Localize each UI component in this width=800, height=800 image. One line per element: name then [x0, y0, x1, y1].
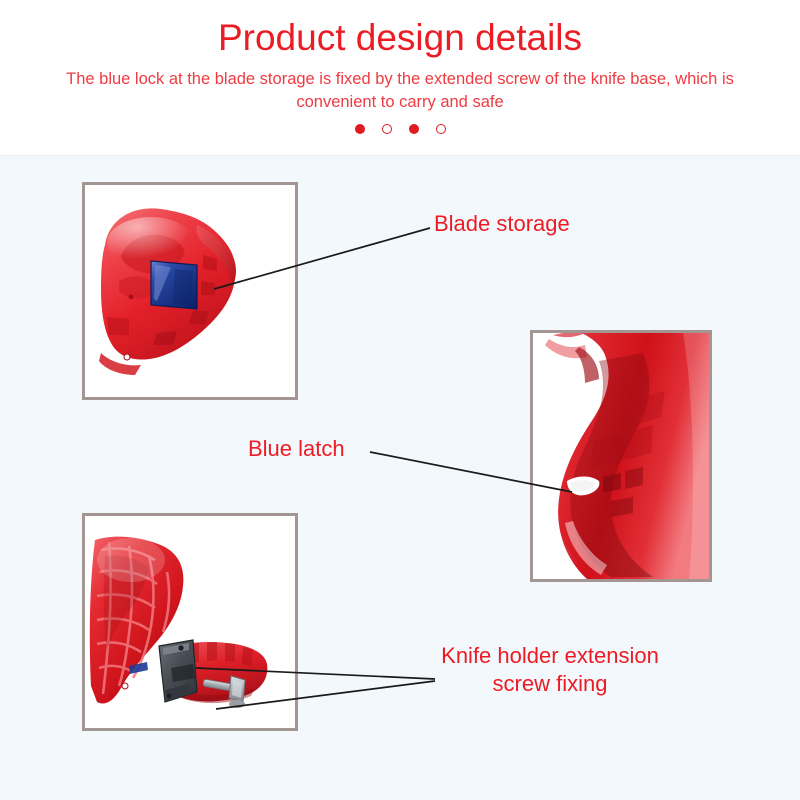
knife-head-top-view-illustration [85, 185, 295, 397]
carousel-dot-1[interactable] [355, 124, 365, 134]
carousel-dots[interactable] [0, 124, 800, 134]
top-left-product-photo [85, 185, 295, 397]
callout-label-blue-latch: Blue latch [248, 436, 345, 462]
right-product-photo [533, 333, 709, 579]
callout-label-screw-fixing-line1: Knife holder extension [420, 642, 680, 670]
ridge-2 [201, 281, 215, 295]
curved-body-closeup-illustration [533, 333, 709, 579]
carousel-dot-4[interactable] [436, 124, 446, 134]
top-left-photo-frame [82, 182, 298, 400]
left-step [107, 317, 129, 335]
underside-gloss [97, 538, 165, 582]
blade-clamp [159, 640, 197, 702]
knife-underside-illustration [85, 516, 295, 728]
carousel-dot-3[interactable] [409, 124, 419, 134]
right-photo-frame [530, 330, 712, 582]
product-detail-infographic: Product design details The blue lock at … [0, 0, 800, 800]
bottom-left-photo-frame [82, 513, 298, 731]
header-divider [0, 155, 800, 156]
carousel-dot-2[interactable] [382, 124, 392, 134]
pivot-hole-upper [129, 295, 134, 300]
callout-label-screw-fixing-line2: screw fixing [420, 670, 680, 698]
callout-label-screw-fixing: Knife holder extension screw fixing [420, 642, 680, 698]
callout-label-blade-storage: Blade storage [434, 211, 570, 237]
gloss-highlight [107, 217, 195, 269]
header-band: Product design details The blue lock at … [0, 0, 800, 155]
page-title: Product design details [0, 16, 800, 60]
bottom-left-product-photo [85, 516, 295, 728]
page-subtitle: The blue lock at the blade storage is fi… [30, 68, 770, 114]
